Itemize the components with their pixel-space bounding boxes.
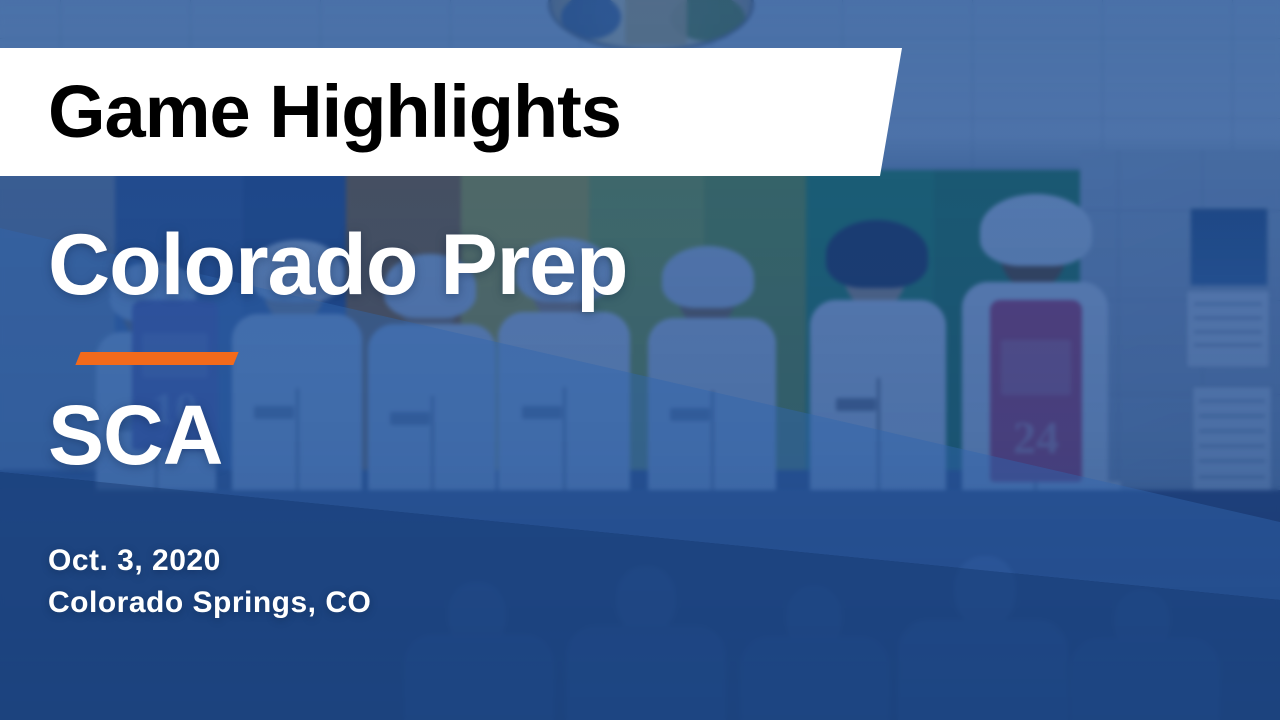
game-highlights-graphic: 10 24 — [0, 0, 1280, 720]
matchup-content: Colorado Prep SCA Oct. 3, 2020 Colorado … — [48, 0, 928, 720]
game-location: Colorado Springs, CO — [48, 583, 371, 622]
orange-slash-divider-icon — [75, 352, 238, 365]
game-date: Oct. 3, 2020 — [48, 541, 221, 580]
away-team-name: SCA — [48, 393, 222, 477]
home-team-name: Colorado Prep — [48, 222, 628, 308]
